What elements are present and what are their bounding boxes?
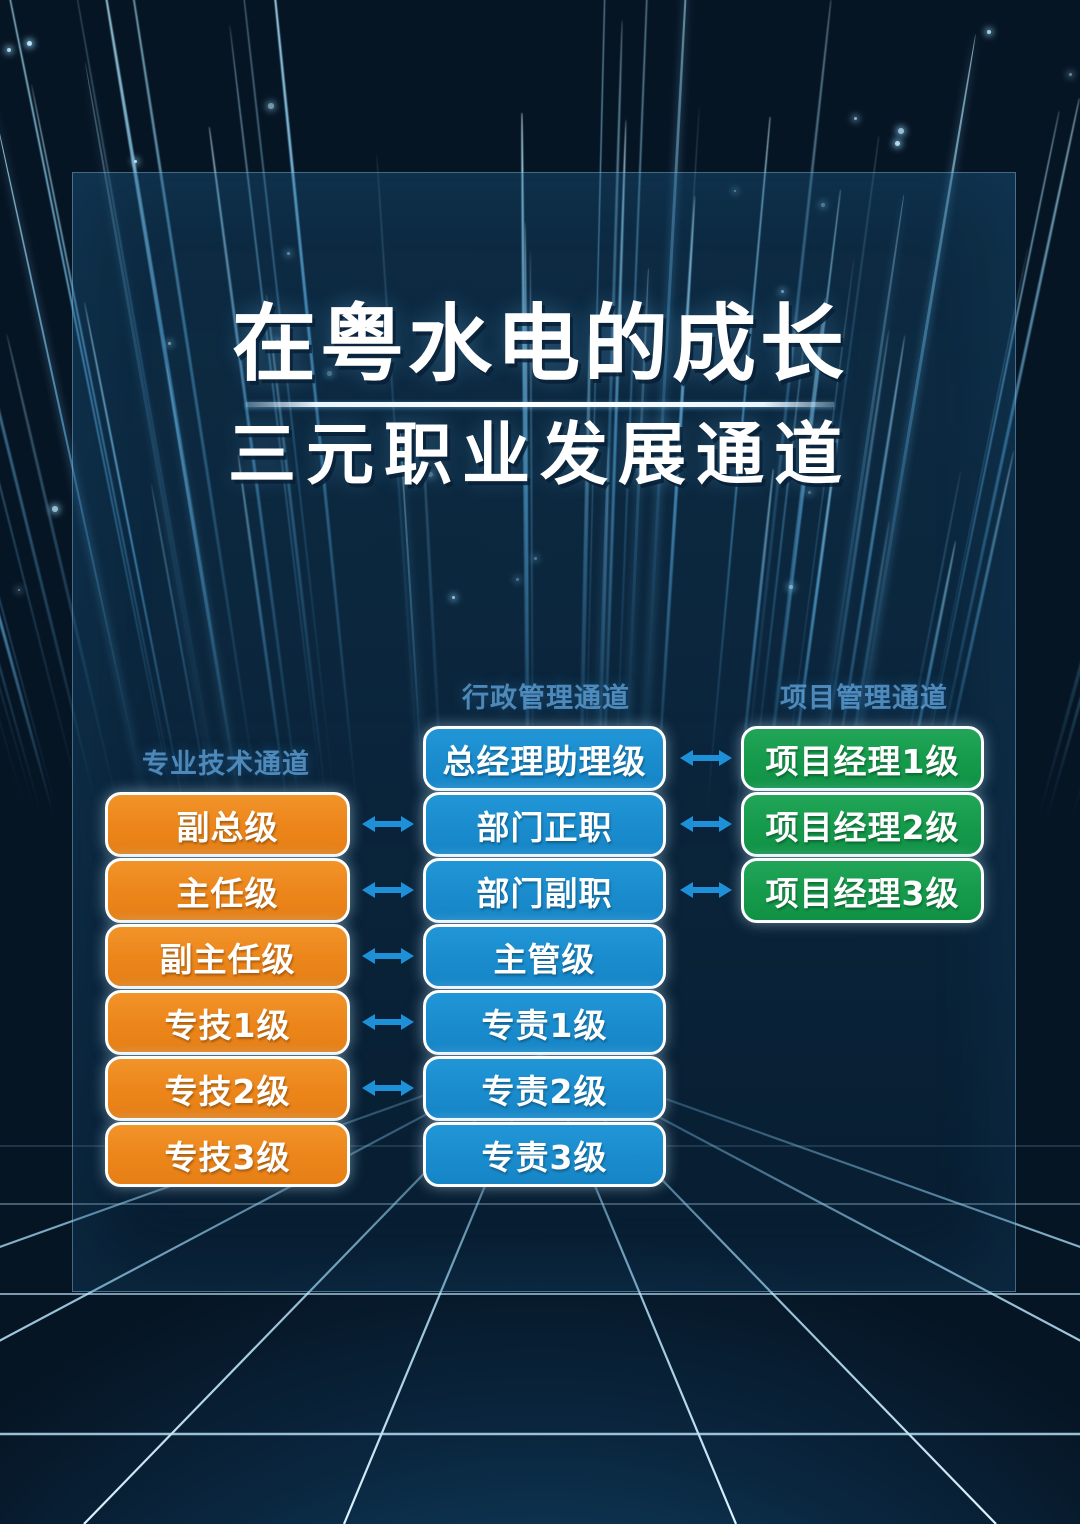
light-ray xyxy=(0,19,30,824)
light-spark xyxy=(27,41,32,46)
node-administrative-2[interactable]: 部门副职 xyxy=(423,858,666,923)
column-header-project: 项目管理通道 xyxy=(780,676,948,715)
node-administrative-0[interactable]: 总经理助理级 xyxy=(423,726,666,791)
column-header-administrative: 行政管理通道 xyxy=(462,676,630,715)
light-ray xyxy=(1069,229,1080,824)
light-spark xyxy=(987,30,991,34)
light-ray xyxy=(0,390,61,823)
node-technical-2[interactable]: 副主任级 xyxy=(105,924,350,989)
node-technical-5[interactable]: 专技3级 xyxy=(105,1122,350,1187)
light-spark xyxy=(52,506,58,512)
node-administrative-1[interactable]: 部门正职 xyxy=(423,792,666,857)
node-administrative-4[interactable]: 专责1级 xyxy=(423,990,666,1055)
light-spark xyxy=(18,589,20,591)
node-technical-3[interactable]: 专技1级 xyxy=(105,990,350,1055)
light-ray xyxy=(1035,306,1080,823)
node-technical-4[interactable]: 专技2级 xyxy=(105,1056,350,1121)
node-administrative-6[interactable]: 专责3级 xyxy=(423,1122,666,1187)
light-ray xyxy=(0,0,45,823)
node-technical-1[interactable]: 主任级 xyxy=(105,858,350,923)
light-ray xyxy=(1068,199,1080,823)
light-spark xyxy=(134,160,137,163)
light-ray xyxy=(0,456,57,823)
node-administrative-3[interactable]: 主管级 xyxy=(423,924,666,989)
node-technical-0[interactable]: 副总级 xyxy=(105,792,350,857)
light-ray xyxy=(1044,508,1080,823)
light-spark xyxy=(898,128,904,134)
light-ray xyxy=(0,215,39,824)
node-project-2[interactable]: 项目经理3级 xyxy=(741,858,984,923)
node-project-0[interactable]: 项目经理1级 xyxy=(741,726,984,791)
node-project-1[interactable]: 项目经理2级 xyxy=(741,792,984,857)
light-spark xyxy=(268,103,274,109)
column-header-technical: 专业技术通道 xyxy=(142,742,310,781)
node-administrative-5[interactable]: 专责2级 xyxy=(423,1056,666,1121)
light-spark xyxy=(895,141,900,146)
poster-root: 在粤水电的成长 三元职业发展通道 专业技术通道 行政管理通道 项目管理通道 副总… xyxy=(0,0,1080,1524)
light-spark xyxy=(1069,73,1072,76)
light-spark xyxy=(7,48,11,52)
light-spark xyxy=(854,117,857,120)
